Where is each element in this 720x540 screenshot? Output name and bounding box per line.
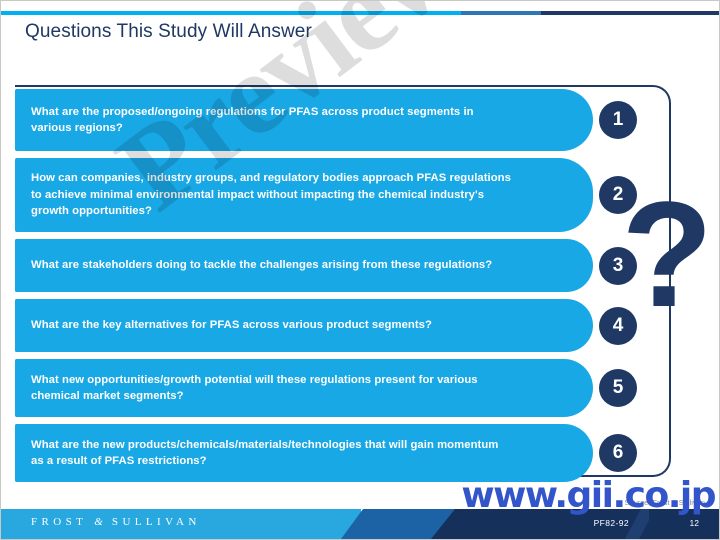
question-number-badge: 4 bbox=[599, 307, 637, 345]
list-item[interactable]: What are stakeholders doing to tackle th… bbox=[15, 239, 625, 292]
list-item[interactable]: What are the proposed/ongoing regulation… bbox=[15, 89, 625, 151]
list-item[interactable]: What are the new products/chemicals/mate… bbox=[15, 424, 625, 482]
list-item[interactable]: How can companies, industry groups, and … bbox=[15, 158, 625, 232]
question-number-badge: 3 bbox=[599, 247, 637, 285]
brand-first: FROST bbox=[31, 516, 87, 528]
top-accent-segment-navy bbox=[541, 11, 720, 15]
question-number-badge: 2 bbox=[599, 176, 637, 214]
list-item[interactable]: What new opportunities/growth potential … bbox=[15, 359, 625, 417]
question-number-badge: 6 bbox=[599, 434, 637, 472]
brand-logo: FROST & SULLIVAN bbox=[31, 516, 201, 528]
page-number: 12 bbox=[690, 518, 699, 528]
page-title: Questions This Study Will Answer bbox=[25, 21, 312, 43]
questions-list: What are the proposed/ongoing regulation… bbox=[15, 89, 625, 489]
question-text: What are stakeholders doing to tackle th… bbox=[31, 257, 492, 273]
question-bar[interactable]: How can companies, industry groups, and … bbox=[15, 158, 593, 232]
question-bar[interactable]: What new opportunities/growth potential … bbox=[15, 359, 593, 417]
list-item[interactable]: What are the key alternatives for PFAS a… bbox=[15, 299, 625, 352]
question-bar[interactable]: What are the new products/chemicals/mate… bbox=[15, 424, 593, 482]
question-number-badge: 1 bbox=[599, 101, 637, 139]
slide-canvas: Questions This Study Will Answer ? What … bbox=[0, 0, 720, 540]
report-code: PF82-92 bbox=[594, 518, 629, 528]
question-bar[interactable]: What are the proposed/ongoing regulation… bbox=[15, 89, 593, 151]
top-accent-segment-blue bbox=[461, 11, 541, 15]
question-text: What new opportunities/growth potential … bbox=[31, 372, 513, 405]
top-accent-bar bbox=[1, 11, 720, 15]
question-text: How can companies, industry groups, and … bbox=[31, 170, 513, 219]
question-number-badge: 5 bbox=[599, 369, 637, 407]
question-bar[interactable]: What are stakeholders doing to tackle th… bbox=[15, 239, 593, 292]
brand-ampersand: & bbox=[94, 516, 105, 528]
top-accent-segment-cyan bbox=[1, 11, 461, 15]
question-text: What are the new products/chemicals/mate… bbox=[31, 437, 513, 470]
question-text: What are the proposed/ongoing regulation… bbox=[31, 104, 513, 137]
question-bar[interactable]: What are the key alternatives for PFAS a… bbox=[15, 299, 593, 352]
site-watermark: www.gii.co.jp bbox=[461, 475, 715, 516]
question-text: What are the key alternatives for PFAS a… bbox=[31, 317, 432, 333]
brand-last: SULLIVAN bbox=[112, 516, 201, 528]
